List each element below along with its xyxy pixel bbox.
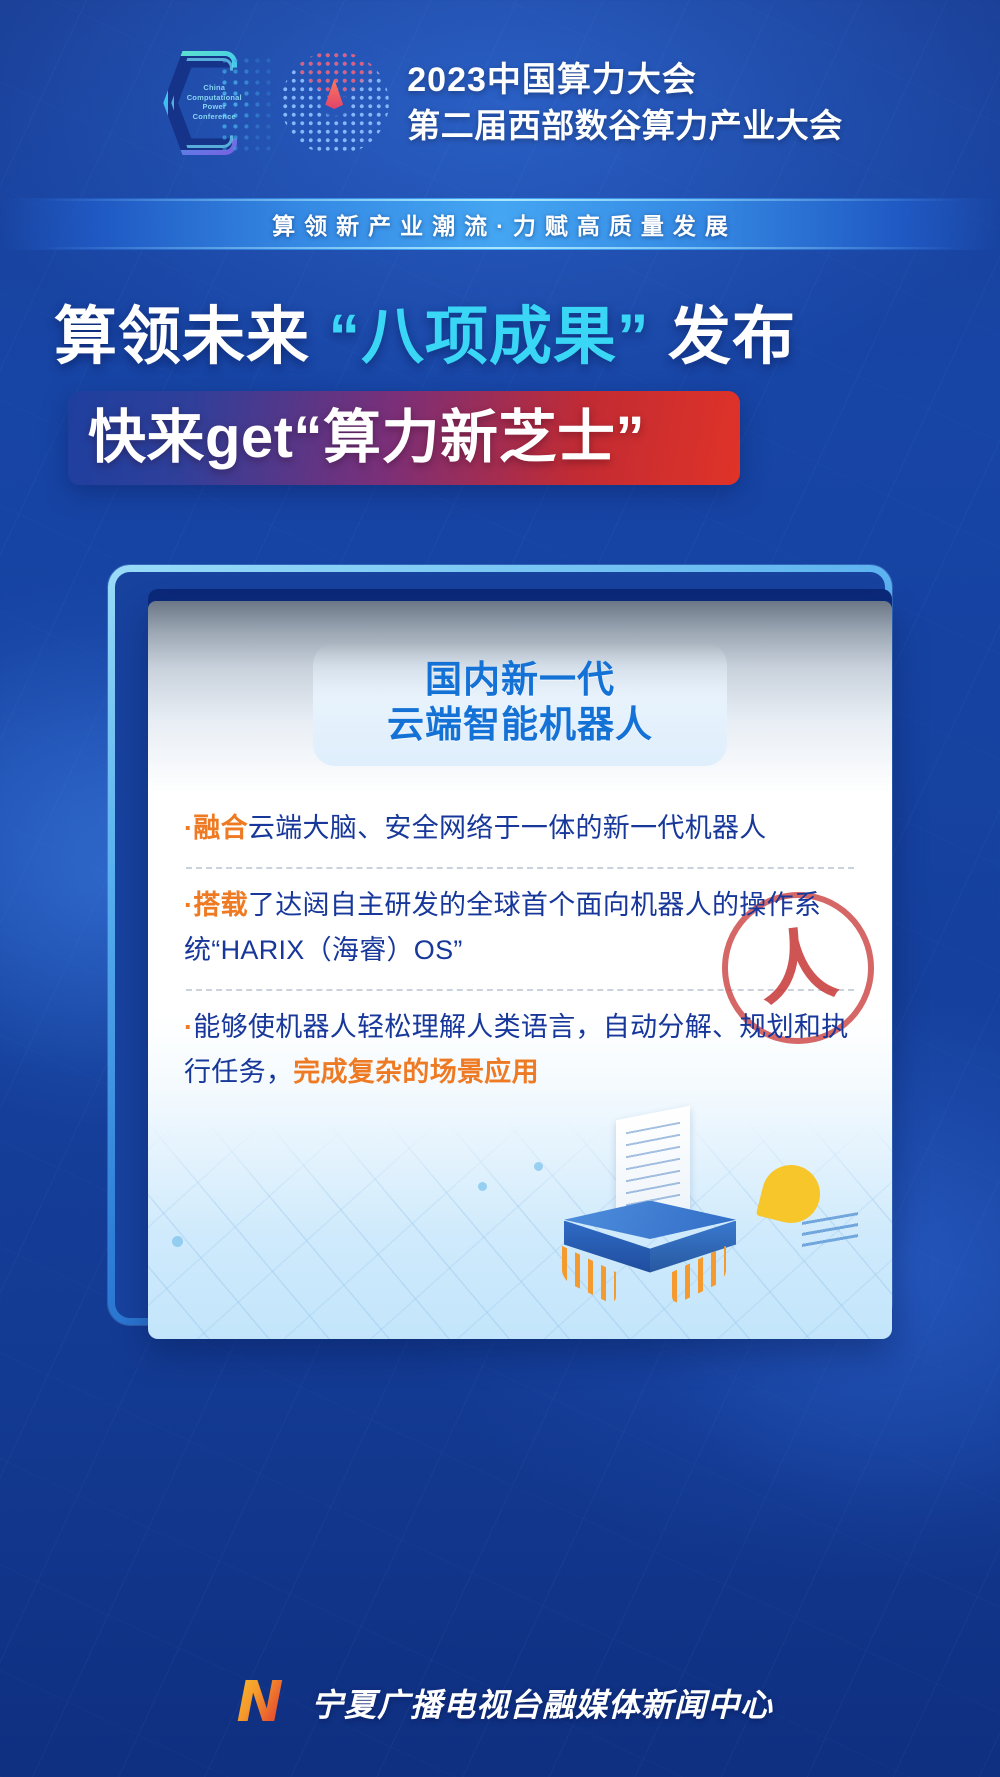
conference-logo: China Computational Power Conference (157, 47, 389, 159)
decor-dot-a (172, 1236, 183, 1247)
card-title-pill: 国内新一代 云端智能机器人 (313, 643, 727, 767)
header-title-group: 2023中国算力大会 第二届西部数谷算力产业大会 (407, 61, 843, 144)
headline-banner: 快来get“算力新芝士” (68, 391, 740, 485)
bullet-text: 了达闼自主研发的全球首个面向机器人的操作系统“HARIX（海睿）OS” (184, 890, 821, 965)
headline-line2: 快来get“算力新芝士” (68, 409, 645, 467)
headline-line1: 算领未来 “八项成果” 发布 (54, 302, 1000, 373)
card-title-line2: 云端智能机器人 (313, 702, 727, 748)
broadcaster-logo-icon: N (227, 1675, 293, 1731)
card-surface: 国内新一代 云端智能机器人 人 ·融合云端大脑、安全网络于一体的新一代机器人 ·… (148, 601, 892, 1339)
radial-fan-logo-icon (281, 51, 389, 155)
card-title-line1: 国内新一代 (313, 657, 727, 703)
slogan-text: 算领新产业潮流·力赋高质量发展 (263, 207, 737, 241)
decor-dot-b (534, 1162, 543, 1171)
bullet-marker: · (184, 890, 193, 920)
headline-part2: 发布 (668, 302, 796, 372)
logo-mark-text: China Computational Power Conference (183, 83, 245, 121)
bullet-marker: · (184, 813, 193, 843)
decor-dot-c (478, 1182, 487, 1191)
result-card: 国内新一代 云端智能机器人 人 ·融合云端大脑、安全网络于一体的新一代机器人 ·… (108, 543, 892, 1343)
list-item: ·搭载了达闼自主研发的全球首个面向机器人的操作系统“HARIX（海睿）OS” (184, 869, 856, 989)
bullet-text: 云端大脑、安全网络于一体的新一代机器人 (248, 813, 767, 843)
server-illustration-icon (544, 1113, 774, 1313)
main-headline: 算领未来 “八项成果” 发布 快来get“算力新芝士” (0, 302, 1000, 485)
bullet-highlight: 融合 (193, 813, 248, 843)
header-title-line1: 2023中国算力大会 (407, 61, 843, 100)
bullet-marker: · (184, 1012, 193, 1042)
card-circuit-pattern (148, 1119, 892, 1339)
header-title-line2: 第二届西部数谷算力产业大会 (407, 107, 843, 145)
list-item: ·融合云端大脑、安全网络于一体的新一代机器人 (184, 792, 856, 867)
footer-text: 宁夏广播电视台融媒体新闻中心 (311, 1680, 773, 1726)
headline-highlight: “八项成果” (310, 302, 668, 372)
headline-part1: 算领未来 (54, 302, 310, 372)
slogan-bar: 算领新产业潮流·力赋高质量发展 (0, 198, 1000, 250)
page-header: China Computational Power Conference 202… (0, 0, 1000, 196)
broadcaster-logo-letter: N (227, 1675, 293, 1731)
hexagon-logo-icon: China Computational Power Conference (157, 47, 275, 159)
bullet-highlight: 搭载 (193, 890, 248, 920)
bullet-highlight-tail: 完成复杂的场景应用 (293, 1057, 539, 1087)
page-footer: N 宁夏广播电视台融媒体新闻中心 (0, 1675, 1000, 1731)
card-body: 人 ·融合云端大脑、安全网络于一体的新一代机器人 ·搭载了达闼自主研发的全球首个… (148, 766, 892, 1111)
list-item: ·能够使机器人轻松理解人类语言，自动分解、规划和执行任务，完成复杂的场景应用 (184, 991, 856, 1111)
